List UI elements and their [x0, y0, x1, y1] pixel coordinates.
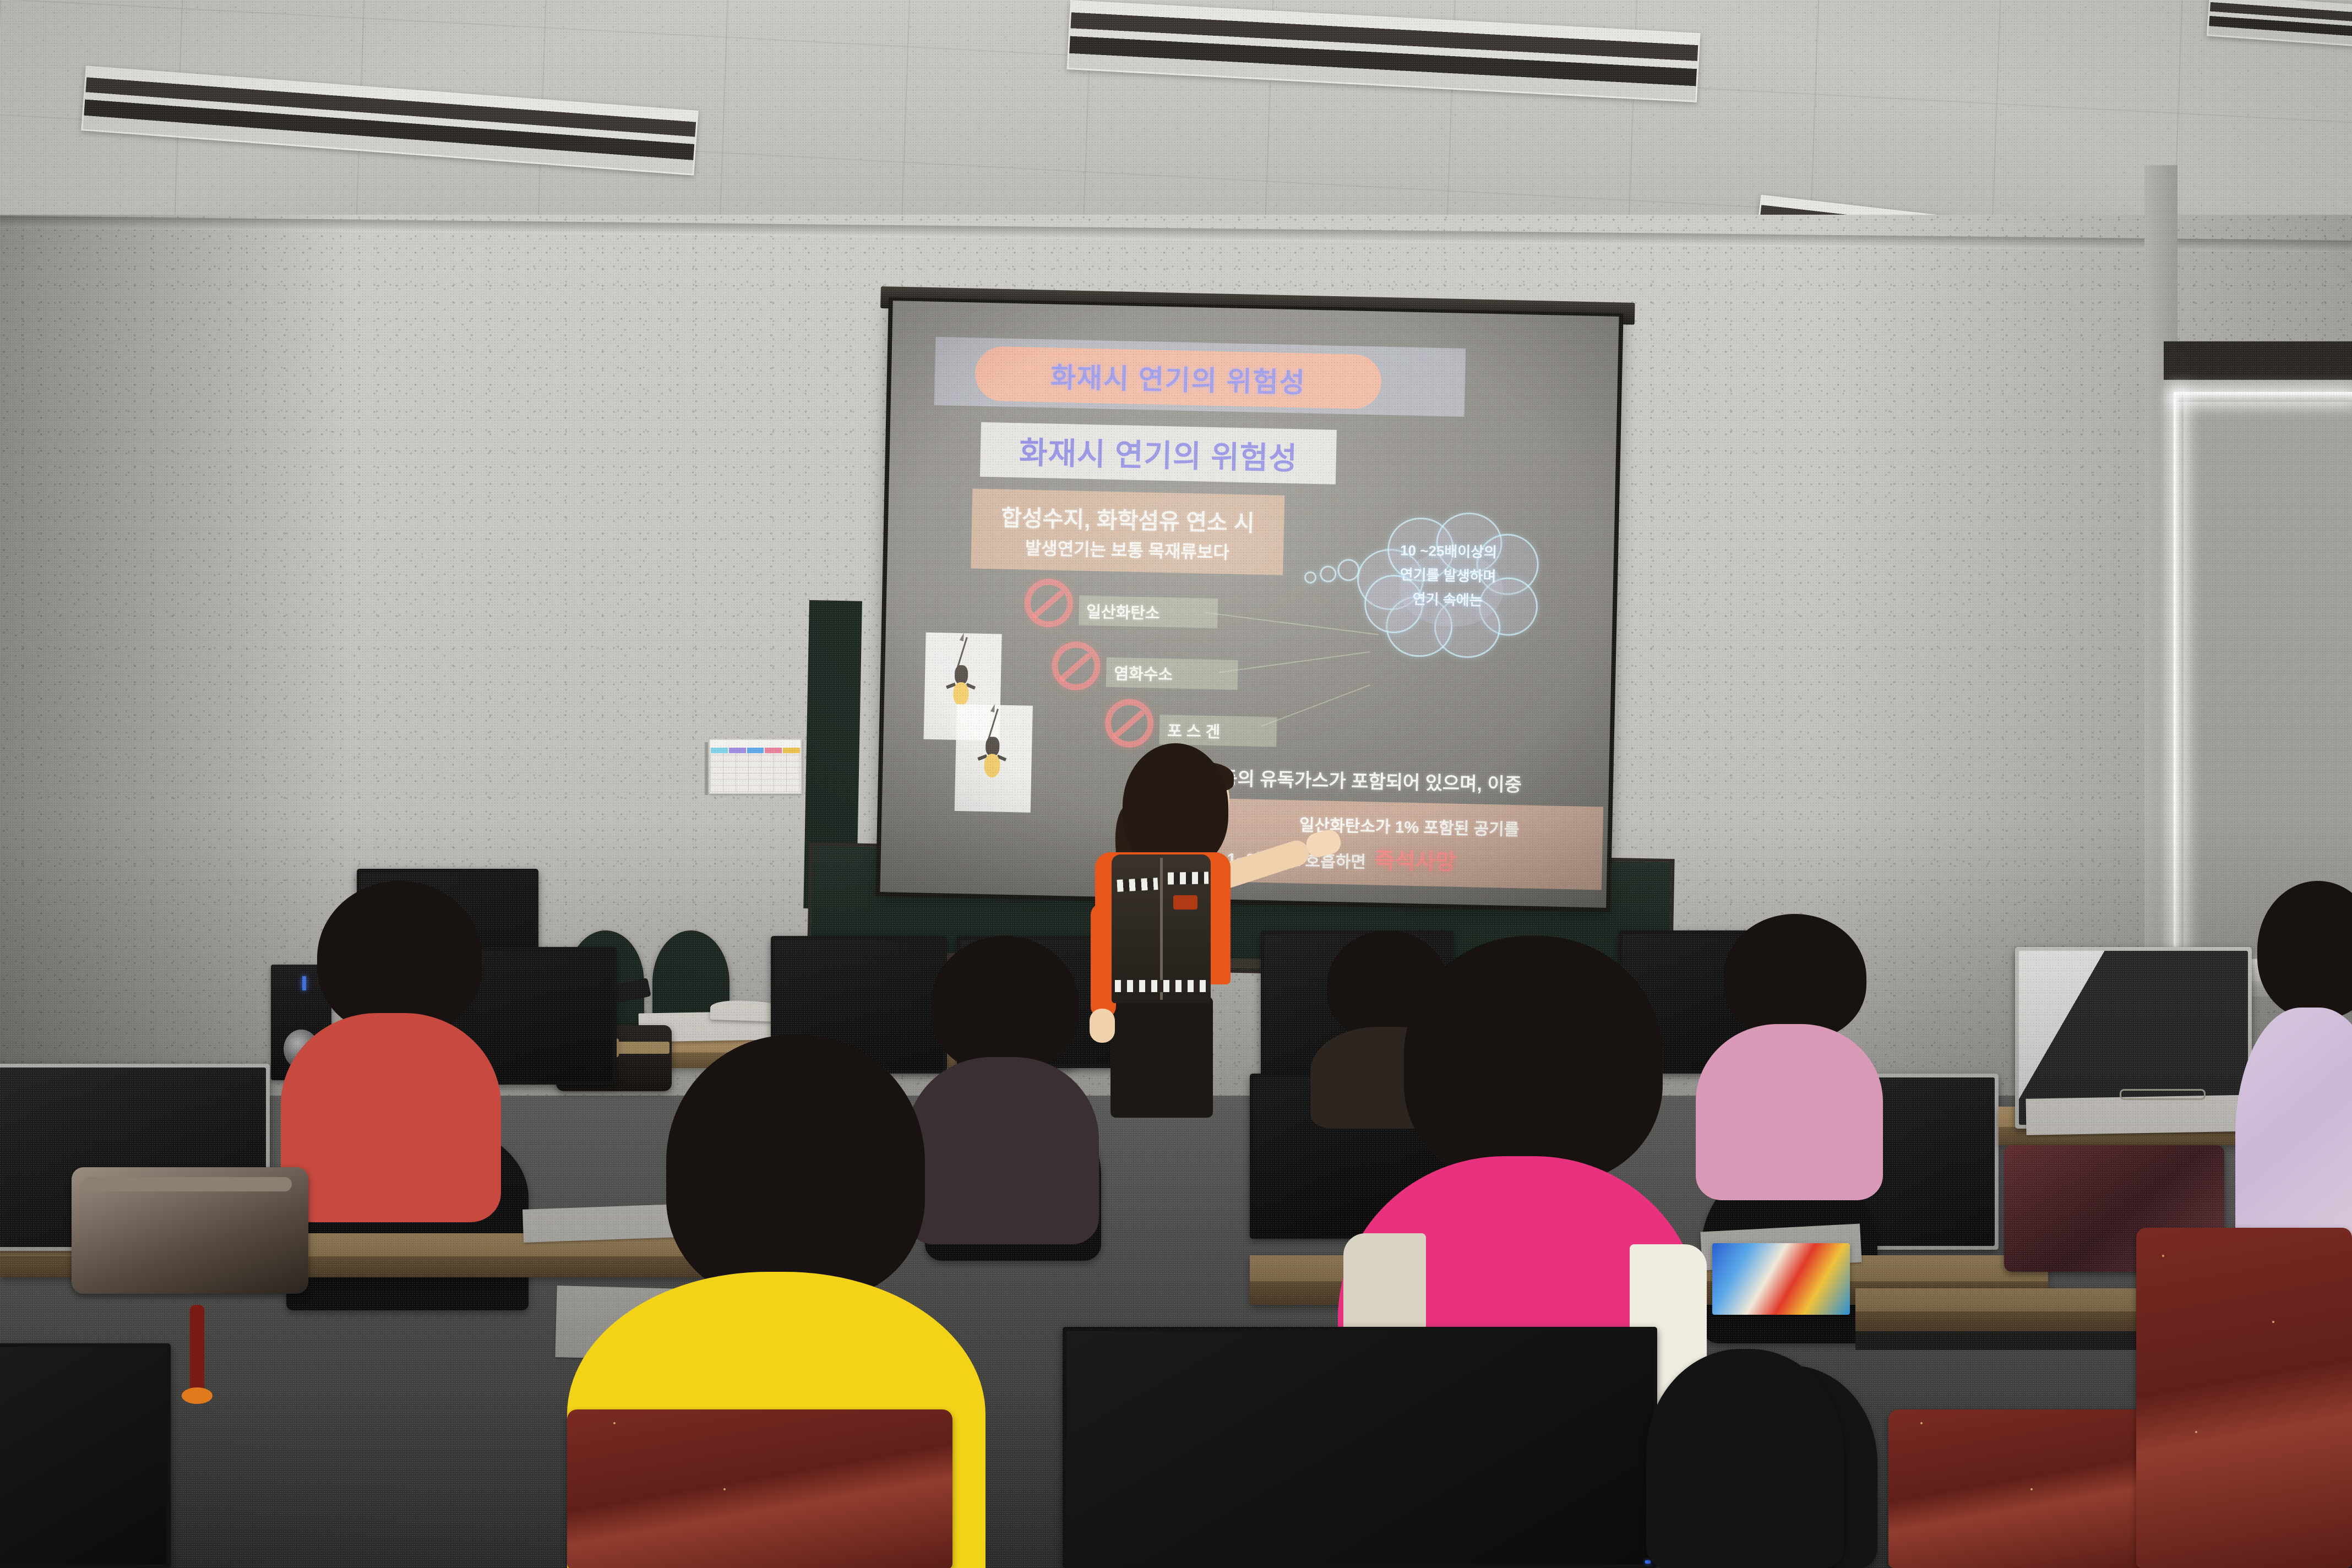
- monitor: [1063, 1327, 1657, 1568]
- presenter-vest-zipper: [1160, 858, 1163, 1000]
- poster-grid: [710, 753, 801, 792]
- poster-header: [710, 740, 801, 748]
- handbag-charm: [182, 1387, 213, 1404]
- wooden-chair[interactable]: [567, 1409, 952, 1568]
- schedule-chart-poster: [709, 739, 802, 794]
- cloud-line-1: 10 ~25배이상의: [1400, 539, 1498, 562]
- student-top-light-pink: [1696, 1024, 1883, 1200]
- handbag-tassel: [190, 1305, 204, 1393]
- presenter-instructor: [1076, 738, 1308, 1118]
- monitor: [0, 1343, 171, 1568]
- window-head-recess: [2164, 341, 2352, 385]
- student-hair: [1404, 936, 1663, 1184]
- handbag-handle: [83, 1177, 292, 1191]
- presenter-trousers: [1110, 997, 1213, 1118]
- cloud-line-3: 연기 속에는: [1412, 587, 1483, 609]
- presenter-vest-badge: [1173, 895, 1197, 910]
- presenter-left-hand: [1090, 1009, 1115, 1043]
- illustrated-booklet: [1712, 1243, 1850, 1315]
- wall-poster-shadow: [705, 742, 708, 795]
- wooden-chair[interactable]: [1888, 1409, 2153, 1568]
- student-hair: [1723, 914, 1866, 1041]
- window-roller-blind[interactable]: [2184, 402, 2352, 963]
- office-chair[interactable]: [1646, 1349, 1844, 1568]
- presenter-reflective-band: [1117, 878, 1158, 892]
- student-hair: [2257, 881, 2352, 1019]
- student-light-pink: [1690, 914, 1888, 1200]
- student-red-polo: [269, 881, 500, 1211]
- handout-papers: [2026, 1095, 2263, 1135]
- classroom-photo-scene: 화재시 연기의 위험성 화재시 연기의 위험성 합성수지, 화학섬유 연소 시 …: [0, 0, 2352, 1568]
- student-top-red: [281, 1013, 501, 1222]
- presenter-hair: [1123, 743, 1228, 870]
- window-light-leak-top: [2174, 392, 2352, 402]
- cloud-line-2: 연기를 발생하며: [1400, 563, 1496, 586]
- student-hair: [317, 881, 482, 1035]
- presenter-reflective-band: [1115, 980, 1211, 992]
- eyeglasses: [2120, 1089, 2206, 1100]
- poster-column-tabs: [710, 748, 801, 753]
- thought-cloud-text: 10 ~25배이상의 연기를 발생하며 연기 속에는: [1366, 538, 1531, 611]
- student-hair: [666, 1035, 925, 1299]
- window-light-leak-left: [2174, 392, 2184, 965]
- wooden-chair[interactable]: [2136, 1228, 2352, 1568]
- presenter-reflective-band: [1168, 872, 1208, 884]
